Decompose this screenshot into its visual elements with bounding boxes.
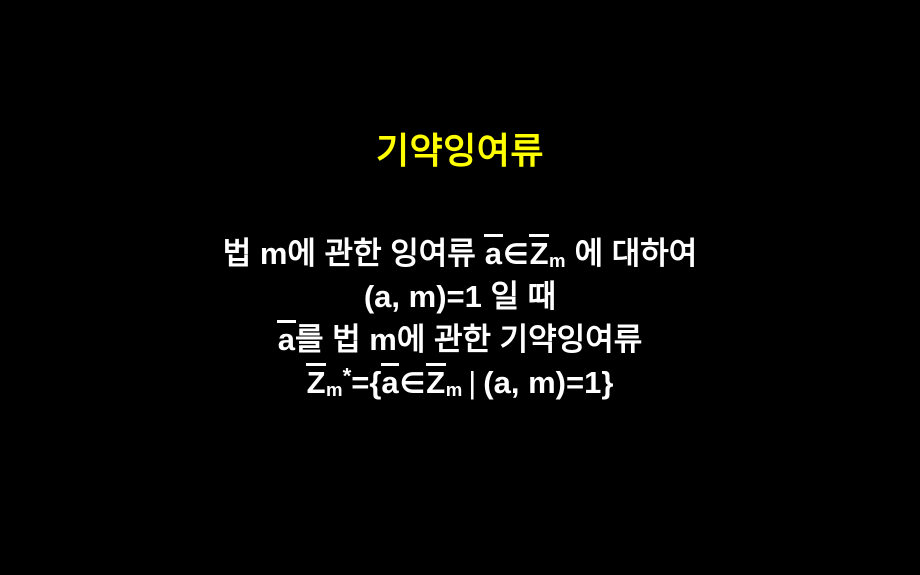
set-builder-bar: | [468, 362, 476, 404]
z-bar-symbol: Z [307, 361, 326, 404]
equals-open-brace: ={ [351, 365, 381, 400]
line1-trail-text: 에 대하여 [575, 236, 698, 271]
element-of-icon: ∈ [503, 239, 529, 271]
a-bar-symbol: a [485, 232, 502, 275]
a-bar-symbol: a [381, 361, 398, 404]
asterisk-superscript: * [343, 364, 352, 389]
page-title: 기약잉여류 [0, 130, 920, 171]
z-bar-symbol: Z [426, 361, 445, 404]
body-line-2: (a, m)=1 일 때 [0, 276, 920, 318]
line3-trail-text: 를 법 m에 관한 기약잉여류 [295, 322, 642, 357]
slide-canvas: 기약잉여류 법 m에 관한 잉여류a∈Zm에 대하여 (a, m)=1 일 때 … [0, 0, 920, 575]
body-line-3: a를 법 m에 관한 기약잉여류 [0, 318, 920, 361]
body-line-4: Zm*={a∈Zm|(a, m)=1} [0, 361, 920, 405]
subscript-m: m [446, 379, 463, 400]
a-bar-symbol: a [278, 318, 295, 361]
subscript-m: m [326, 379, 343, 400]
subscript-m: m [549, 250, 566, 271]
line1-lead-text: 법 m에 관한 잉여류 [223, 236, 476, 271]
gcd-condition: (a, m)=1 [483, 365, 601, 400]
close-brace: } [601, 365, 613, 400]
z-bar-symbol: Z [530, 232, 549, 275]
body-line-1: 법 m에 관한 잉여류a∈Zm에 대하여 [0, 232, 920, 276]
slide-body: 법 m에 관한 잉여류a∈Zm에 대하여 (a, m)=1 일 때 a를 법 m… [0, 232, 920, 405]
element-of-icon: ∈ [400, 368, 426, 400]
